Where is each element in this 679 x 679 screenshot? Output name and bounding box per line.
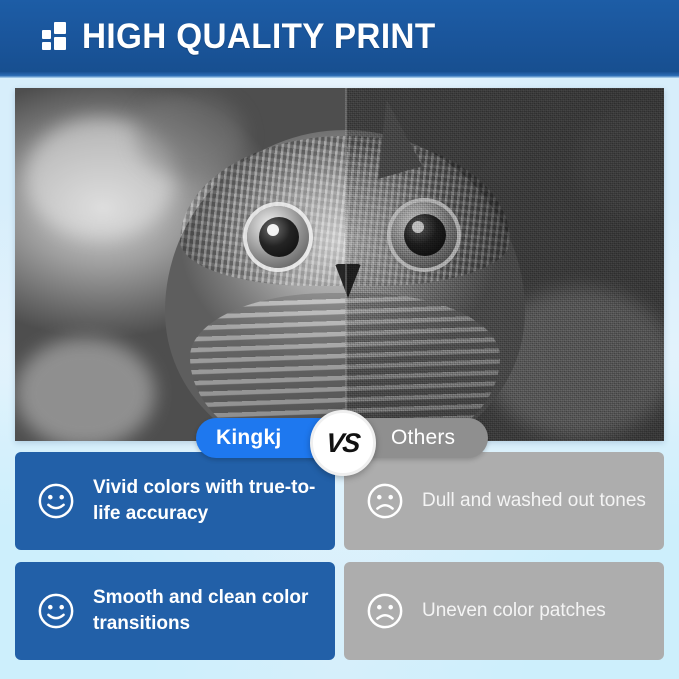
comparison-card-text: Smooth and clean color transitions	[93, 585, 328, 636]
smiley-face-icon	[37, 482, 75, 520]
owl-comparison-image	[15, 88, 664, 441]
comparison-card-text: Dull and washed out tones	[422, 488, 646, 514]
hero-half-others	[345, 88, 664, 441]
header-underline	[0, 72, 679, 78]
sad-face-icon	[366, 592, 404, 630]
others-pill-label: Others	[391, 426, 455, 450]
smiley-face-icon	[37, 592, 75, 630]
comparison-grid: Vivid colors with true-to-life accuracy …	[15, 452, 664, 664]
grid-squares-icon	[42, 22, 68, 50]
owl-scene-clean	[15, 88, 345, 441]
sad-face-icon	[366, 482, 404, 520]
comparison-card-bad-2: Uneven color patches	[344, 562, 664, 660]
vs-badge-label: VS	[325, 428, 361, 459]
comparison-card-text: Vivid colors with true-to-life accuracy	[93, 475, 328, 526]
split-divider	[345, 88, 347, 441]
header-bar: HIGH QUALITY PRINT	[0, 0, 679, 72]
comparison-card-bad-1: Dull and washed out tones	[344, 452, 664, 550]
comparison-card-text: Uneven color patches	[422, 598, 606, 624]
brand-pill-label: Kingkj	[216, 426, 281, 450]
poster-root: HIGH QUALITY PRINT	[0, 0, 679, 679]
owl-scene-grainy	[345, 88, 664, 441]
comparison-card-good-1: Vivid colors with true-to-life accuracy	[15, 452, 335, 550]
comparison-card-good-2: Smooth and clean color transitions	[15, 562, 335, 660]
page-title: HIGH QUALITY PRINT	[82, 19, 436, 54]
hero-half-kingkj	[15, 88, 345, 441]
vs-badge: VS	[310, 410, 376, 476]
